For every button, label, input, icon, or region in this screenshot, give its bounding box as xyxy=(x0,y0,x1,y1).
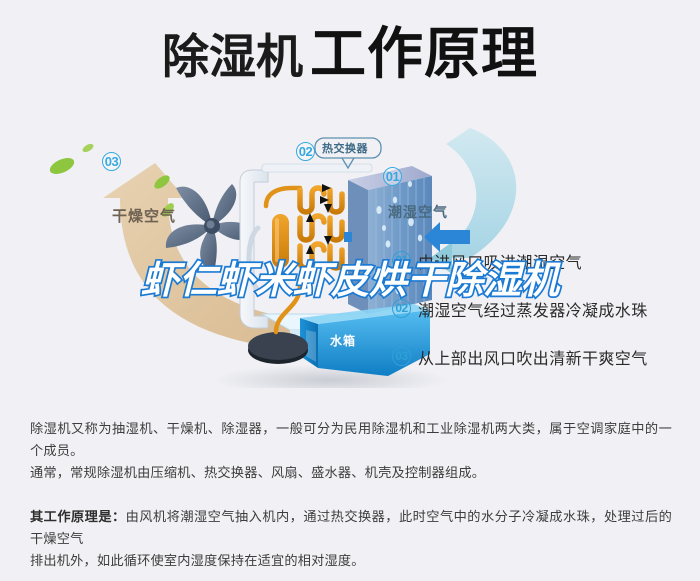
badge-heat-exchanger: 02 xyxy=(296,142,315,161)
label-heat-exchanger: 热交换器 xyxy=(322,144,368,155)
para2-lead: 其工作原理是： xyxy=(30,509,126,524)
watermark-text: 虾仁虾米虾皮烘干除湿机 xyxy=(0,262,700,300)
para1-line2: 通常，常规除湿机由压缩机、热交换器、风扇、盛水器、机壳及控制器组成。 xyxy=(30,465,485,480)
title-secondary: 工作原理 xyxy=(310,22,538,85)
page-root: 除湿机工作原理 xyxy=(0,0,700,566)
body-copy: 除湿机又称为抽湿机、干燥机、除湿器，一般可分为民用除湿机和工业除湿机两大类，属于… xyxy=(30,418,672,581)
badge-humid-air: 01 xyxy=(383,167,402,186)
step-text: 从上部出风口吹出清新干爽空气 xyxy=(418,345,648,369)
label-dry-air: 干燥空气 xyxy=(112,209,176,224)
list-item: 03 从上部出风口吹出清新干爽空气 xyxy=(392,342,692,371)
badge-dry-air: 03 xyxy=(102,152,121,171)
page-title: 除湿机工作原理 xyxy=(0,26,700,82)
step-number: 03 xyxy=(392,347,411,366)
machine-base xyxy=(248,332,308,364)
label-water-tank: 水箱 xyxy=(330,335,356,347)
paragraph-one: 除湿机又称为抽湿机、干燥机、除湿器，一般可分为民用除湿机和工业除湿机两大类，属于… xyxy=(30,418,672,484)
label-humid-air: 潮湿空气 xyxy=(388,205,448,219)
para1-line1: 除湿机又称为抽湿机、干燥机、除湿器，一般可分为民用除湿机和工业除湿机两大类，属于… xyxy=(30,421,672,458)
paragraph-two: 其工作原理是：由风机将潮湿空气抽入机内，通过热交换器，此时空气中的水分子冷凝成水… xyxy=(30,506,672,572)
para2-line1: 由风机将潮湿空气抽入机内，通过热交换器，此时空气中的水分子冷凝成水珠，处理过后的… xyxy=(30,509,672,546)
watermark-label: 虾仁虾米虾皮烘干除湿机 xyxy=(141,260,559,302)
title-primary: 除湿机 xyxy=(162,30,303,83)
